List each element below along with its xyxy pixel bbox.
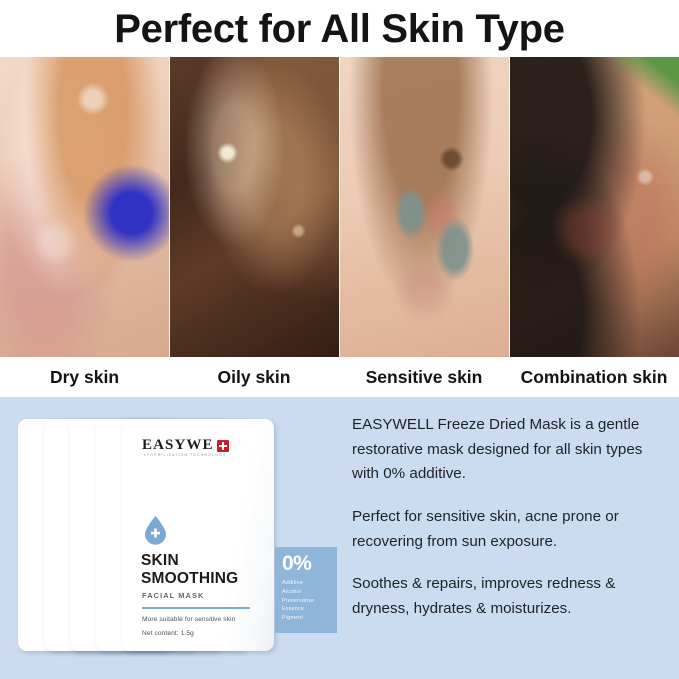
badge-item-essence: Essence: [282, 605, 337, 614]
badge-value: 0%: [282, 553, 337, 574]
swiss-cross-icon: [217, 440, 229, 452]
title-bar: Perfect for All Skin Type: [0, 0, 679, 57]
divider-rule: [142, 607, 250, 609]
product-description: EASYWELL Freeze Dried Mask is a gentle r…: [352, 413, 668, 621]
sachet-stack: EASYWE LYOPHILIZATION TECHNOLOGY SKIN: [18, 419, 338, 657]
caption-dry-skin: Dry skin: [0, 367, 169, 388]
page-title: Perfect for All Skin Type: [114, 9, 564, 49]
badge-item-list: Additive Alcohol Preservative Essence Pi…: [282, 579, 337, 623]
product-note: More suitable for sensitive skin: [142, 616, 235, 623]
badge-item-preservative: Preservative: [282, 597, 337, 606]
product-name: SKIN SMOOTHING: [141, 552, 238, 589]
caption-sensitive-skin: Sensitive skin: [339, 367, 509, 388]
product-name-line1: SKIN: [141, 552, 238, 570]
brand-name: EASYWE: [142, 437, 214, 454]
product-net-content: Net content: 1.5g: [142, 630, 194, 637]
badge-item-alcohol: Alcohol: [282, 588, 337, 597]
photo-oily-skin: [170, 57, 339, 357]
water-drop-icon: [142, 515, 169, 545]
zero-percent-badge: 0% Additive Alcohol Preservative Essence…: [275, 547, 337, 633]
description-paragraph-2: Perfect for sensitive skin, acne prone o…: [352, 505, 668, 554]
badge-item-pigment: Pigment: [282, 614, 337, 623]
caption-combination-skin: Combination skin: [509, 367, 679, 388]
badge-item-additive: Additive: [282, 579, 337, 588]
caption-oily-skin: Oily skin: [169, 367, 339, 388]
skin-type-caption-row: Dry skin Oily skin Sensitive skin Combin…: [0, 357, 679, 397]
brand-tagline: LYOPHILIZATION TECHNOLOGY: [144, 453, 226, 457]
description-paragraph-3: Soothes & repairs, improves redness & dr…: [352, 572, 668, 621]
photo-combination-skin: [510, 57, 679, 357]
skin-type-photo-strip: [0, 57, 679, 357]
product-subtitle: FACIAL MASK: [142, 591, 204, 600]
photo-sensitive-skin: [340, 57, 509, 357]
product-name-line2: SMOOTHING: [141, 570, 238, 588]
infographic-page: Perfect for All Skin Type Dry skin Oily …: [0, 0, 679, 679]
sachet-front: EASYWE LYOPHILIZATION TECHNOLOGY SKIN: [122, 419, 274, 651]
description-paragraph-1: EASYWELL Freeze Dried Mask is a gentle r…: [352, 413, 668, 487]
product-panel: EASYWE LYOPHILIZATION TECHNOLOGY SKIN: [0, 397, 679, 679]
brand-logo: EASYWE: [142, 437, 229, 454]
photo-dry-skin: [0, 57, 169, 357]
